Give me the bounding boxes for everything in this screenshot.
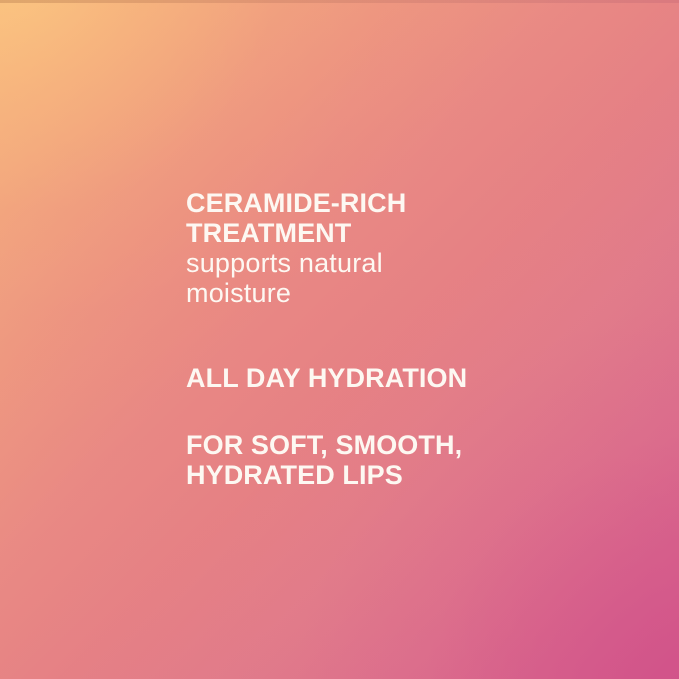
benefit-line-all-day-hydration: ALL DAY HYDRATION <box>186 363 626 393</box>
benefit-line-ceramide-rich: CERAMIDE-RICH <box>186 188 626 218</box>
marketing-copy: CERAMIDE-RICH TREATMENT supports natural… <box>186 188 626 490</box>
benefit-line-supports-natural: supports natural <box>186 248 626 278</box>
copy-spacer-one <box>186 308 626 363</box>
benefit-block-ceramide-treatment: CERAMIDE-RICH TREATMENT supports natural… <box>186 188 626 308</box>
benefit-line-treatment: TREATMENT <box>186 218 626 248</box>
background-top-edge-line <box>0 0 679 3</box>
product-feature-graphic: CERAMIDE-RICH TREATMENT supports natural… <box>0 0 679 679</box>
benefit-line-hydrated-lips: HYDRATED LIPS <box>186 460 626 490</box>
benefit-block-all-day-hydration: ALL DAY HYDRATION <box>186 363 626 393</box>
benefit-block-soft-smooth-lips: FOR SOFT, SMOOTH, HYDRATED LIPS <box>186 430 626 490</box>
copy-spacer-two <box>186 393 626 430</box>
benefit-line-moisture: moisture <box>186 278 626 308</box>
benefit-line-for-soft-smooth: FOR SOFT, SMOOTH, <box>186 430 626 460</box>
